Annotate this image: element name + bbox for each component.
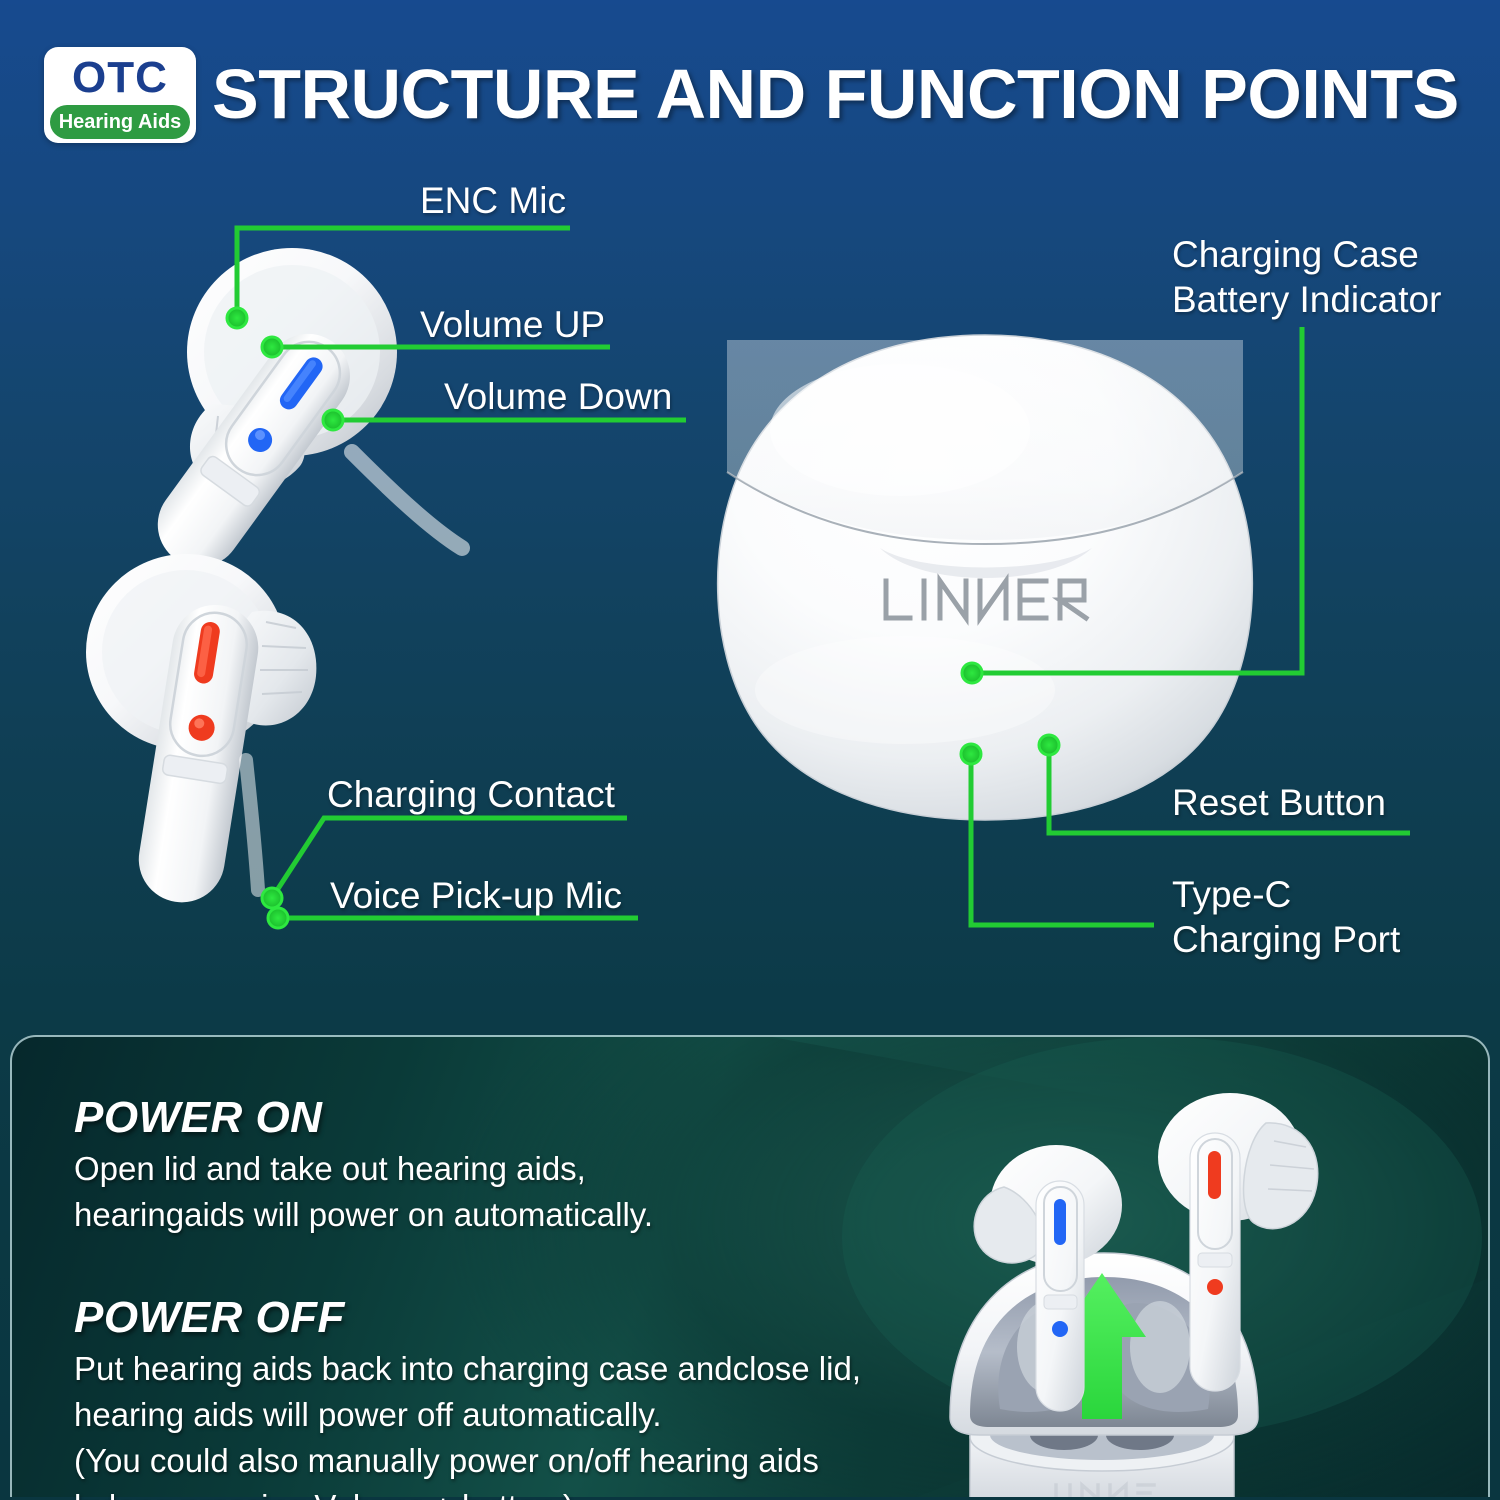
power-off-heading: POWER OFF [74, 1290, 954, 1346]
charging-case [718, 335, 1253, 820]
earbud-lower-left [86, 554, 316, 909]
earbud-upper-left [141, 248, 462, 583]
power-off-body: Put hearing aids back into charging case… [74, 1346, 954, 1500]
power-off-block: POWER OFF Put hearing aids back into cha… [74, 1290, 954, 1500]
callout-line-charging-contact [272, 818, 627, 898]
power-on-heading: POWER ON [74, 1090, 954, 1146]
power-on-body: Open lid and take out hearing aids, hear… [74, 1146, 954, 1238]
infographic-root: OTC Hearing Aids STRUCTURE AND FUNCTION … [0, 0, 1500, 1500]
instructions-text: POWER ON Open lid and take out hearing a… [74, 1090, 954, 1500]
power-on-block: POWER ON Open lid and take out hearing a… [74, 1090, 954, 1238]
